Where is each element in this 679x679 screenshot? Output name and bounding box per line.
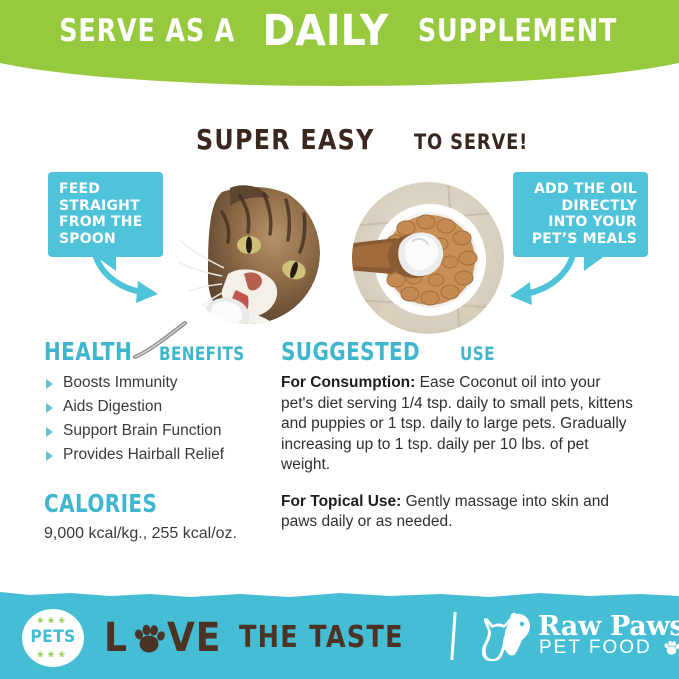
brand-subtitle: PET FOOD: [539, 638, 679, 658]
callout-left-text: FEED STRAIGHT FROM THE SPOON: [59, 181, 142, 247]
product-infographic: SERVE AS A DAILY SUPPLEMENT SUPER EASYTO…: [0, 0, 679, 679]
list-item: Boosts Immunity: [44, 373, 266, 393]
list-item: Aids Digestion: [44, 397, 266, 417]
pets-badge: ❀❀❀ PETS ❀❀❀: [22, 609, 84, 667]
triangle-bullet-icon: [46, 403, 53, 413]
footer-divider: [450, 612, 456, 660]
tagline-rest: THE TASTE: [239, 623, 404, 653]
suggested-use-heading-big: SUGGESTED: [281, 339, 420, 364]
paw-print-icon: [132, 621, 166, 655]
left-column: HEALTHBENEFITS Boosts Immunity Aids Dige…: [44, 339, 266, 543]
consumption-label: For Consumption:: [281, 374, 415, 391]
callout-add-oil-to-meals: ADD THE OIL DIRECTLY INTO YOUR PET’S MEA…: [513, 172, 648, 257]
benefit-label: Support Brain Function: [63, 422, 222, 439]
calories-block: CALORIES 9,000 kcal/kg., 255 kcal/oz.: [44, 491, 266, 543]
callout-left-tail: [94, 255, 116, 271]
list-item: Provides Hairball Relief: [44, 445, 266, 465]
health-benefits-heading-small: BENEFITS: [159, 345, 245, 364]
health-benefits-heading: HEALTHBENEFITS: [44, 339, 266, 364]
suggested-use-heading-small: USE: [460, 345, 495, 364]
header-title-part1: SERVE AS A: [60, 13, 236, 49]
footer-torn-edge: [0, 592, 679, 601]
header-title-highlight: DAILY: [262, 6, 388, 56]
pets-badge-label: PETS: [24, 627, 81, 647]
tagline-love-start: L: [104, 618, 128, 658]
benefit-label: Boosts Immunity: [63, 374, 178, 391]
hero-headline: SUPER EASYTO SERVE!: [196, 123, 548, 156]
benefit-label: Provides Hairball Relief: [63, 446, 224, 463]
paw-row-bottom-icon: ❀❀❀: [22, 651, 84, 659]
brand-logo: Raw Paws® PET FOOD: [476, 611, 666, 663]
footer-band: ❀❀❀ PETS ❀❀❀ L VE THE TASTE: [0, 592, 679, 679]
paw-row-top-icon: ❀❀❀: [22, 617, 84, 625]
suggested-use-heading: SUGGESTEDUSE: [281, 339, 637, 364]
main-content: SUPER EASYTO SERVE! FEED STRAIGHT FROM T…: [0, 62, 679, 592]
topical-paragraph: For Topical Use: Gently massage into ski…: [281, 492, 637, 533]
header-title-part2: SUPPLEMENT: [417, 13, 616, 49]
triangle-bullet-icon: [46, 427, 53, 437]
list-item: Support Brain Function: [44, 421, 266, 441]
right-column: SUGGESTEDUSE For Consumption: Ease Cocon…: [281, 339, 637, 549]
tagline-love-end: VE: [167, 618, 221, 658]
calories-heading: CALORIES: [44, 491, 266, 516]
callout-right-text: ADD THE OIL DIRECTLY INTO YOUR PET’S MEA…: [532, 181, 637, 247]
callout-feed-from-spoon: FEED STRAIGHT FROM THE SPOON: [48, 172, 163, 257]
header-title: SERVE AS A DAILY SUPPLEMENT: [0, 0, 679, 62]
health-benefits-heading-big: HEALTH: [44, 339, 132, 364]
triangle-bullet-icon: [46, 451, 53, 461]
calories-value: 9,000 kcal/kg., 255 kcal/oz.: [44, 525, 266, 543]
calories-heading-text: CALORIES: [44, 491, 157, 516]
cat-photo: [178, 182, 320, 324]
brand-paw-icon: [663, 639, 679, 656]
benefits-list: Boosts Immunity Aids Digestion Support B…: [44, 373, 266, 465]
footer-tagline: L VE THE TASTE: [104, 614, 433, 662]
topical-label: For Topical Use:: [281, 493, 401, 510]
triangle-bullet-icon: [46, 379, 53, 389]
hero-headline-small: TO SERVE!: [414, 130, 528, 154]
brand-subtitle-text: PET FOOD: [539, 637, 652, 658]
benefit-label: Aids Digestion: [63, 398, 162, 415]
kibble-bowl-photo: [352, 182, 504, 334]
dog-and-cat-silhouette-icon: [476, 611, 534, 663]
hero-headline-big: SUPER EASY: [196, 123, 375, 156]
consumption-paragraph: For Consumption: Ease Coconut oil into y…: [281, 373, 637, 476]
callout-right-tail: [584, 255, 606, 271]
